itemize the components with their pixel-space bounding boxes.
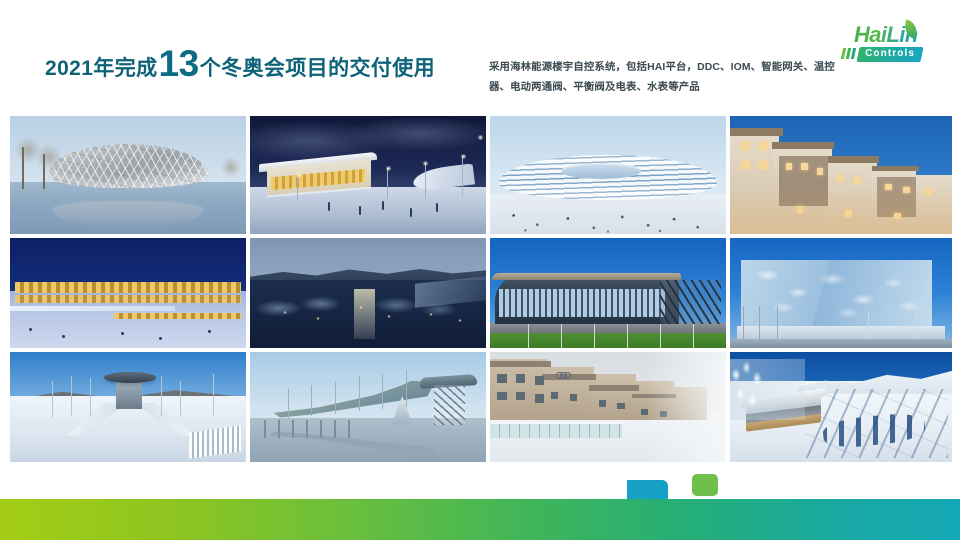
hailin-controls-logo: HaiLin Controls: [842, 24, 946, 64]
olympic-rings-icon: [556, 372, 572, 378]
deco-square-large: [692, 474, 718, 496]
footer-gradient-bar: [0, 499, 960, 540]
slide-header: 2021年完成 13 个冬奥会项目的交付使用 采用海林能源楼宇自控系统，包括HA…: [0, 0, 960, 114]
photo-national-aquatics-centre-ice-cube[interactable]: [730, 238, 952, 348]
photo-alpine-resort-hotel[interactable]: [730, 116, 952, 234]
photo-snow-venue-night-lights[interactable]: [10, 238, 246, 348]
photo-olympic-village-snow[interactable]: [490, 352, 726, 462]
project-photo-grid: [10, 116, 950, 462]
photo-olympic-village-aerial-dusk[interactable]: [250, 238, 486, 348]
photo-national-stadium-birds-nest[interactable]: [10, 116, 246, 234]
title-lead-text: 2021年完成: [45, 58, 158, 79]
photo-glass-curtain-sports-hall[interactable]: [490, 238, 726, 348]
logo-bars-icon: [842, 48, 855, 59]
photo-biathlon-centre-night[interactable]: [250, 116, 486, 234]
photo-ski-jumping-centre-snow-ruyi[interactable]: [10, 352, 246, 462]
title-highlight-number: 13: [158, 45, 200, 82]
photo-mountain-ski-slope-lodge[interactable]: [730, 352, 952, 462]
header-description: 采用海林能源楼宇自控系统，包括HAI平台，DDC、IOM、智能网关、温控器、电动…: [489, 58, 841, 99]
logo-banner-text: Controls: [865, 48, 915, 60]
title-tail-text: 个冬奥会项目的交付使用: [200, 58, 435, 79]
photo-national-speed-skating-oval[interactable]: [490, 116, 726, 234]
slide-canvas: 2021年完成 13 个冬奥会项目的交付使用 采用海林能源楼宇自控系统，包括HA…: [0, 0, 960, 540]
page-title: 2021年完成 13 个冬奥会项目的交付使用: [45, 44, 435, 81]
logo-banner: Controls: [856, 47, 923, 62]
photo-big-air-shougang[interactable]: [250, 352, 486, 462]
